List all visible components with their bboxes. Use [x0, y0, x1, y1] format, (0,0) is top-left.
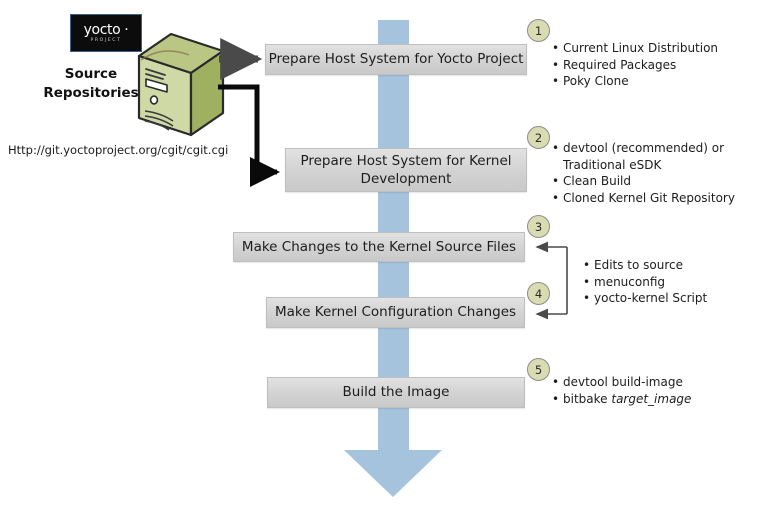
server-tower-icon [133, 31, 225, 139]
bullet-item: yocto-kernel Script [583, 290, 707, 307]
yocto-project-logo: yocto · PROJECT [70, 14, 142, 52]
bullet-item: devtool (recommended) or Traditional eSD… [552, 140, 735, 173]
source-repositories-label: Source Repositories [36, 65, 146, 103]
bullet-list-step5: devtool build-imagebitbake target_image [552, 374, 691, 407]
process-box-step2[interactable]: Prepare Host System for Kernel Developme… [285, 148, 527, 192]
process-box-step4[interactable]: Make Kernel Configuration Changes [266, 297, 525, 328]
process-box-step3[interactable]: Make Changes to the Kernel Source Files [233, 232, 525, 262]
step-number-5: 5 [527, 358, 550, 381]
source-repositories-url: Http://git.yoctoproject.org/cgit/cgit.cg… [8, 143, 228, 157]
yocto-logo-subtext: PROJECT [90, 39, 121, 44]
flow-spine-arrowhead [344, 450, 442, 497]
diagram-canvas: yocto · PROJECT Source Repositories Http… [0, 0, 769, 517]
bullet-item: Required Packages [552, 57, 718, 74]
bullet-list-step1: Current Linux DistributionRequired Packa… [552, 40, 718, 90]
bullet-item: Clean Build [552, 173, 735, 190]
bullet-item: bitbake target_image [552, 391, 691, 408]
bullet-item: menuconfig [583, 274, 707, 291]
step-number-2: 2 [527, 126, 550, 149]
process-box-step1[interactable]: Prepare Host System for Yocto Project [265, 44, 527, 75]
bullet-list-step3-step4: Edits to sourcemenuconfigyocto-kernel Sc… [583, 257, 707, 307]
arrow-server-to-step2 [218, 87, 277, 172]
bullet-item: devtool build-image [552, 374, 691, 391]
bullet-item: Current Linux Distribution [552, 40, 718, 57]
bullet-item: Poky Clone [552, 73, 718, 90]
step-number-1: 1 [527, 19, 550, 42]
step-number-4: 4 [527, 282, 550, 305]
bullet-item: Cloned Kernel Git Repository [552, 190, 735, 207]
yocto-logo-wordmark: yocto · [84, 23, 129, 37]
process-box-step5[interactable]: Build the Image [267, 377, 525, 408]
bullet-item: Edits to source [583, 257, 707, 274]
step-number-3: 3 [527, 215, 550, 238]
bullet-list-step2: devtool (recommended) or Traditional eSD… [552, 140, 735, 206]
